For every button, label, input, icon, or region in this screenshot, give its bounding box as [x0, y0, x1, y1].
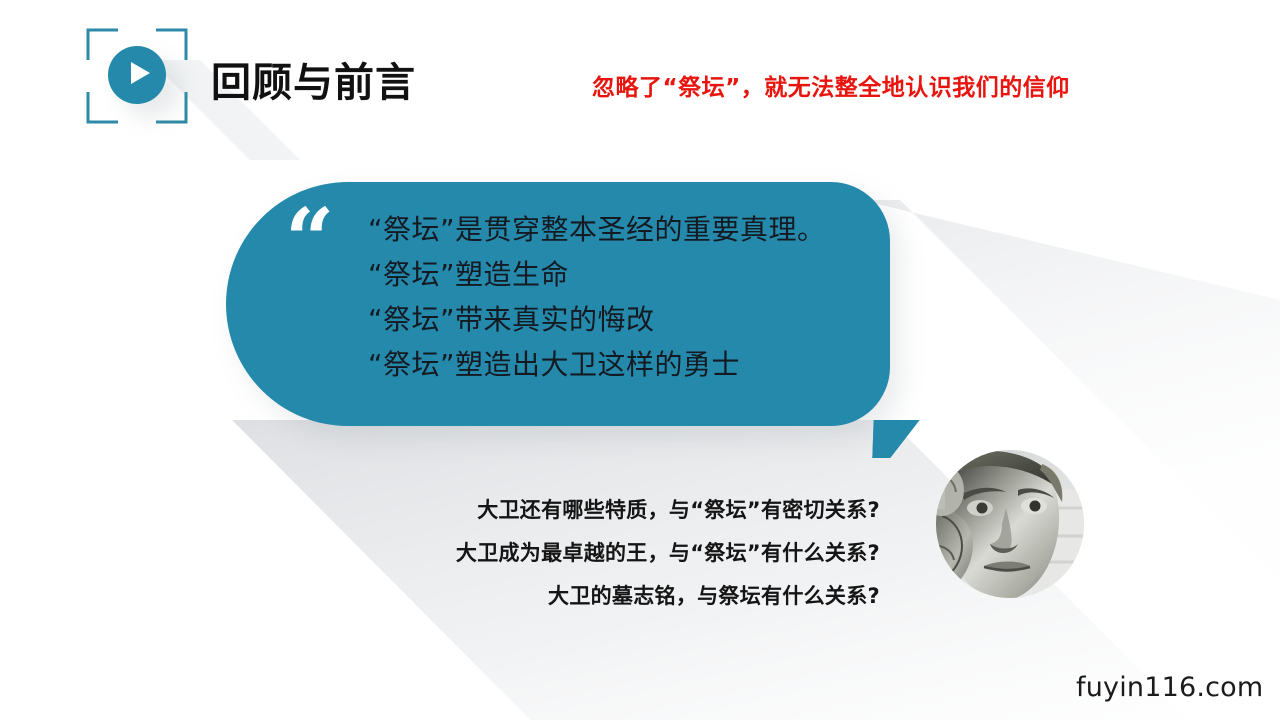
header-logo-mark [86, 28, 188, 124]
slide-canvas: 回顾与前言 忽略了“祭坛”，就无法整全地认识我们的信仰 “ “祭坛”是贯穿整本圣… [0, 0, 1280, 720]
quote-bubble-tail [872, 420, 919, 458]
quote-line: “祭坛”塑造生命 [368, 252, 908, 297]
question-list: 大卫还有哪些特质，与“祭坛”有密切关系? 大卫成为最卓越的王，与“祭坛”有什么关… [330, 489, 880, 618]
quote-line: “祭坛”塑造出大卫这样的勇士 [368, 342, 908, 387]
david-statue-photo [936, 450, 1084, 598]
quote-line: “祭坛”带来真实的悔改 [368, 297, 908, 342]
play-triangle-icon [131, 62, 150, 84]
play-button-icon[interactable] [108, 46, 166, 104]
quote-line: “祭坛”是贯穿整本圣经的重要真理。 [368, 207, 908, 252]
headline-statement: 忽略了“祭坛”，就无法整全地认识我们的信仰 [592, 68, 1070, 102]
question-item: 大卫还有哪些特质，与“祭坛”有密切关系? [330, 489, 880, 532]
question-item: 大卫的墓志铭，与祭坛有什么关系? [330, 575, 880, 618]
site-watermark: fuyin116.com [1076, 672, 1263, 703]
left-double-quote-icon: “ [285, 198, 334, 284]
question-item: 大卫成为最卓越的王，与“祭坛”有什么关系? [330, 532, 880, 575]
page-title: 回顾与前言 [211, 50, 416, 108]
quote-bubble-text: “祭坛”是贯穿整本圣经的重要真理。 “祭坛”塑造生命 “祭坛”带来真实的悔改 “… [368, 207, 908, 387]
